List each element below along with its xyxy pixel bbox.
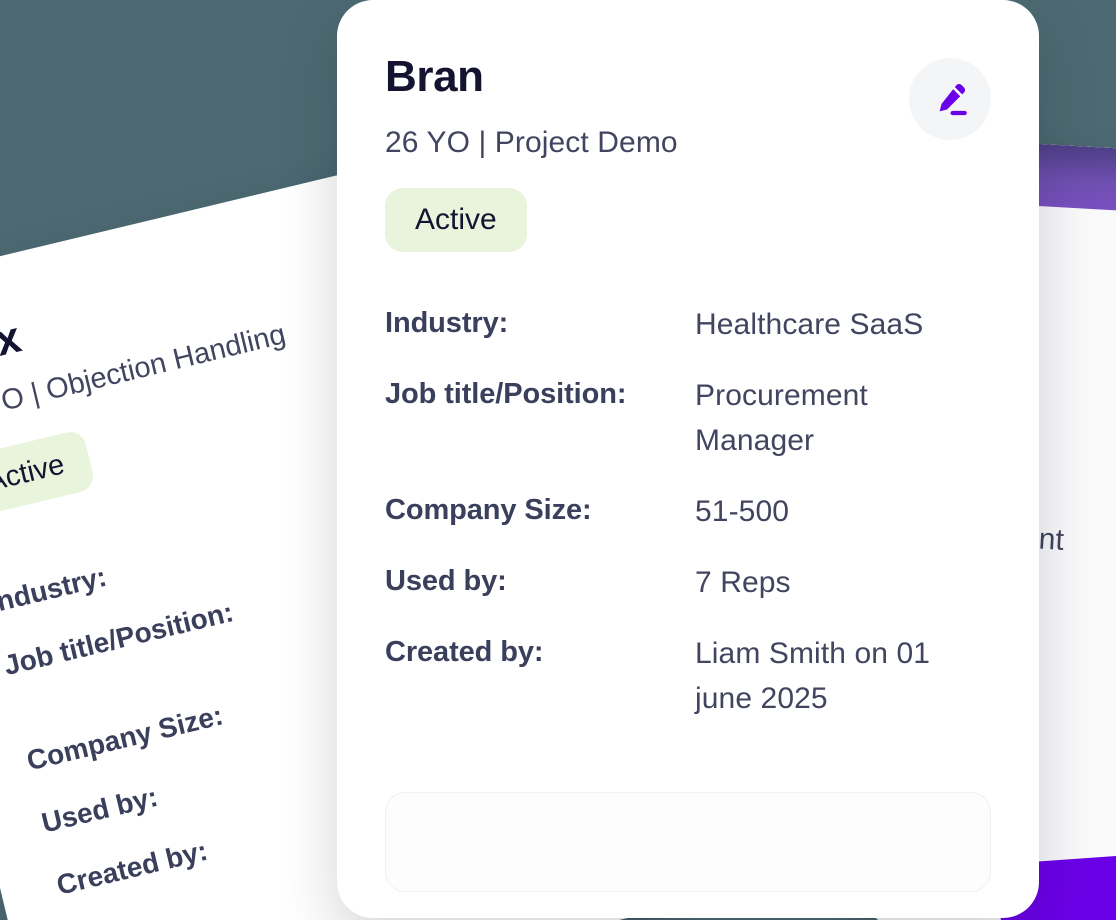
persona-details-list: Industry: Healthcare SaaS Job title/Posi… xyxy=(385,302,991,721)
detail-value: 51-500 xyxy=(695,489,991,534)
status-badge: Active xyxy=(385,188,527,252)
detail-row: Used by: 7 Reps xyxy=(385,560,991,605)
persona-card-main[interactable]: Bran 26 YO | Project Demo Active Industr… xyxy=(337,0,1039,918)
detail-value: Healthcare SaaS xyxy=(695,302,991,347)
pencil-edit-icon xyxy=(930,79,970,119)
detail-label: Job title/Position: xyxy=(385,373,695,415)
detail-value: 7 Reps xyxy=(695,560,991,605)
detail-label: Industry: xyxy=(385,302,695,344)
detail-row: Industry: Healthcare SaaS xyxy=(385,302,991,347)
status-badge-left: Active xyxy=(0,429,96,519)
detail-label: Used by: xyxy=(385,560,695,602)
persona-subtitle: 26 YO | Project Demo xyxy=(385,126,678,160)
edit-button[interactable] xyxy=(909,58,991,140)
detail-label: Company Size: xyxy=(385,489,695,531)
detail-row: Created by: Liam Smith on 01 june 2025 xyxy=(385,631,991,721)
persona-name: Bran xyxy=(385,54,678,100)
card-stack-stage: aaS Procurement Manager 500 Smith on 21 … xyxy=(0,0,1116,920)
card-header: Bran 26 YO | Project Demo Active xyxy=(385,54,991,252)
detail-row: Company Size: 51-500 xyxy=(385,489,991,534)
header-text-group: Bran 26 YO | Project Demo Active xyxy=(385,54,678,252)
card-footer-panel xyxy=(385,792,991,892)
detail-row: Job title/Position: Procurement Manager xyxy=(385,373,991,463)
detail-value: Procurement Manager xyxy=(695,373,991,463)
detail-label: Created by: xyxy=(385,631,695,673)
detail-value: Liam Smith on 01 june 2025 xyxy=(695,631,991,721)
